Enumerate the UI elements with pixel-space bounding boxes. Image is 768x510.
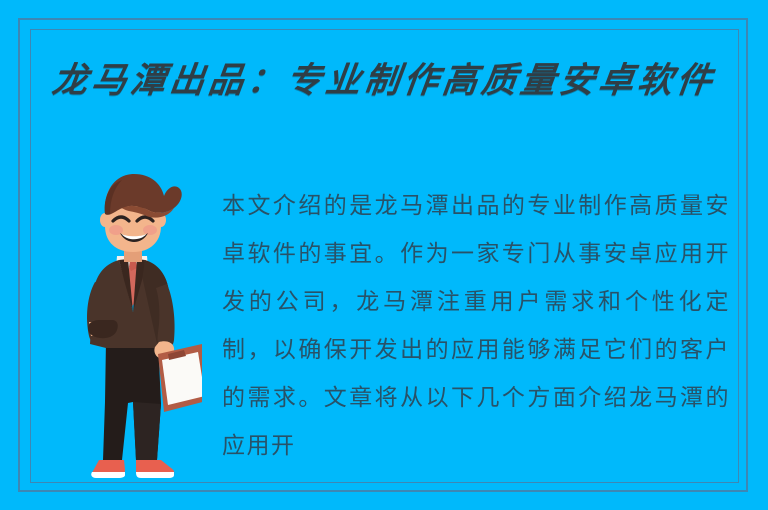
clipboard-paper: [162, 352, 202, 405]
cheek-right: [143, 225, 157, 235]
ear-left: [100, 213, 110, 227]
shoe-right-sole: [136, 472, 174, 478]
illustration-businessman: [62, 172, 202, 484]
page-title: 龙马潭出品：专业制作高质量安卓软件: [0, 58, 768, 104]
cheek-left: [109, 225, 123, 235]
poster-canvas: 龙马潭出品：专业制作高质量安卓软件 本文介绍的是龙马潭出品的专业制作高质量安卓软…: [0, 0, 768, 510]
trousers-leg-right: [133, 402, 161, 460]
clipboard: [158, 344, 202, 412]
body-paragraph: 本文介绍的是龙马潭出品的专业制作高质量安卓软件的事宜。作为一家专门从事安卓应用开…: [222, 182, 730, 470]
shoe-left-sole: [91, 472, 125, 478]
